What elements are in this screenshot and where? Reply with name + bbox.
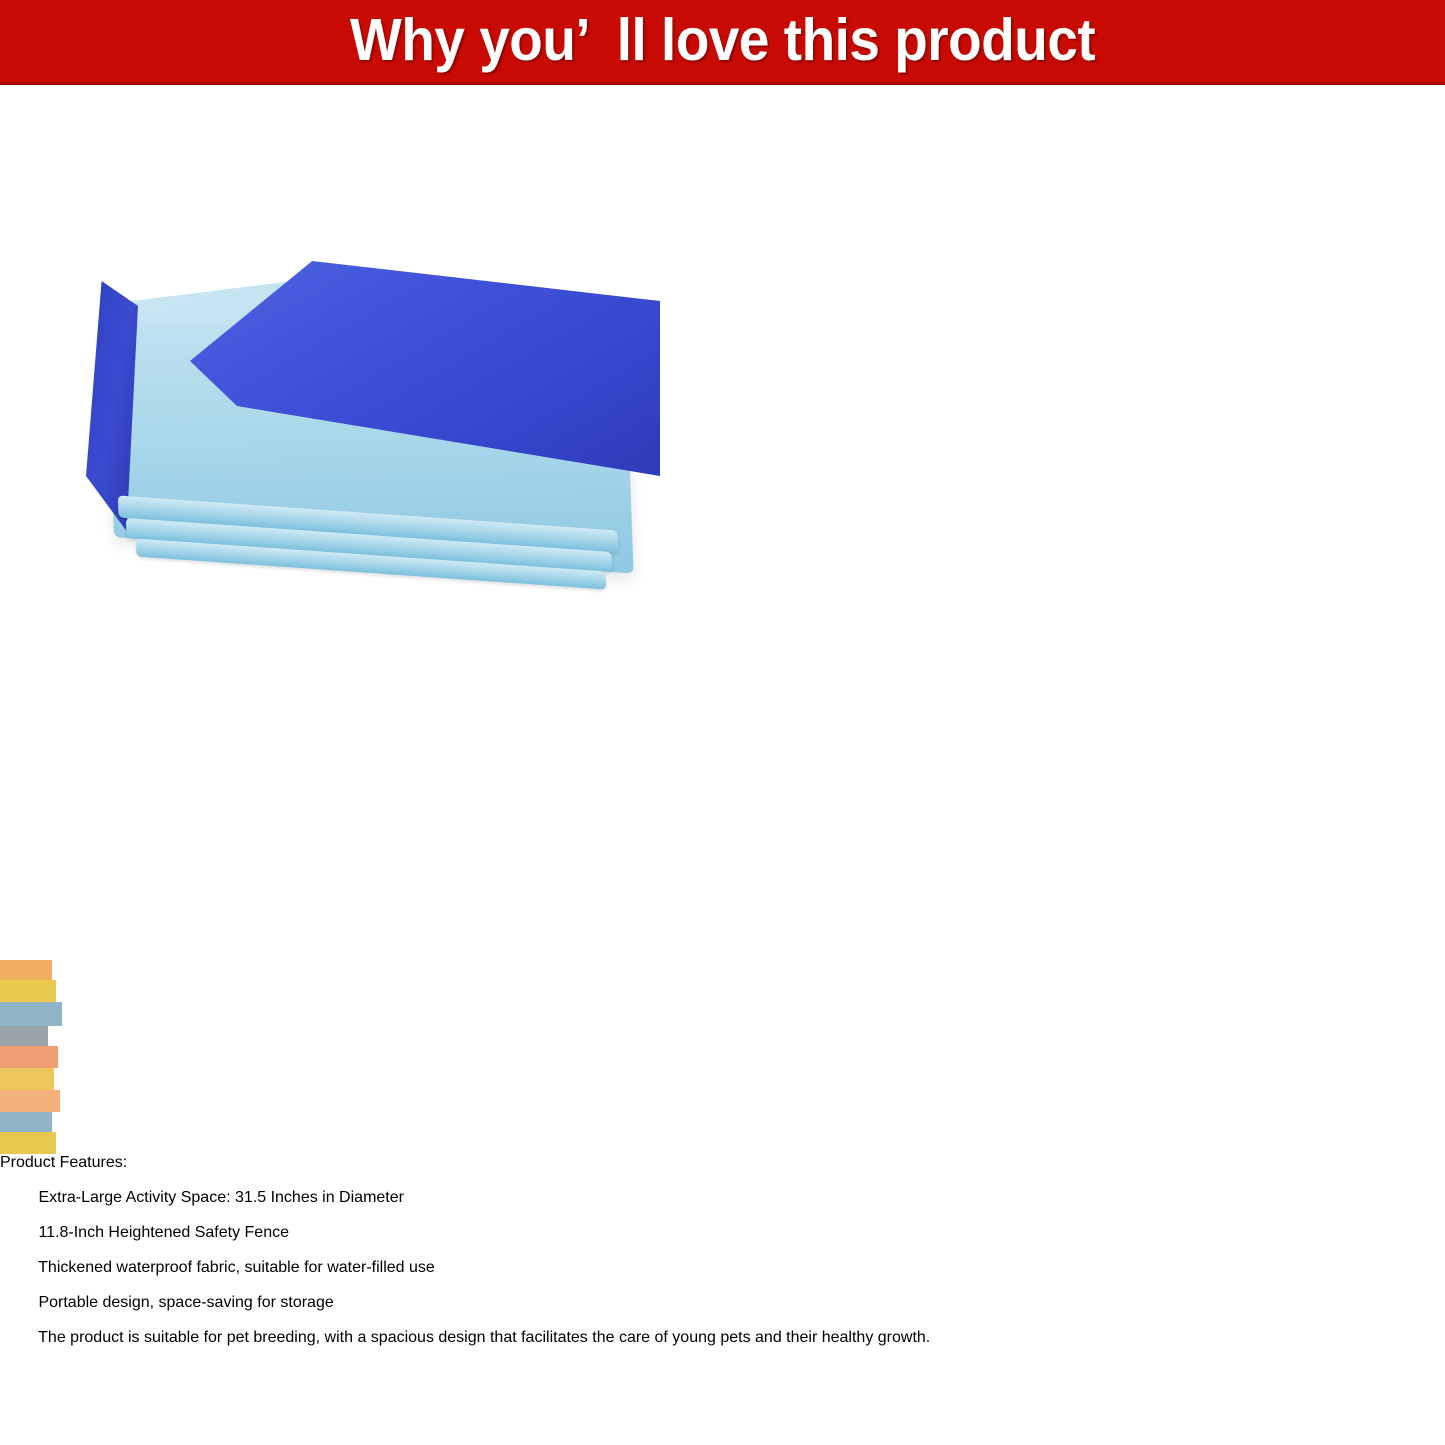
feature-text: Portable design, space-saving for storag… xyxy=(38,1294,333,1311)
product-infographic: Why you’ ll love this product xyxy=(0,0,1445,1445)
check-circle-icon xyxy=(0,1224,38,1241)
feature-text: Thickened waterproof fabric, suitable fo… xyxy=(38,1259,435,1276)
fish-motif xyxy=(0,1002,62,1026)
feature-text: The product is suitable for pet breeding… xyxy=(38,1329,930,1346)
features-list: Extra-Large Activity Space: 31.5 Inches … xyxy=(0,1172,1445,1347)
feature-text: Extra-Large Activity Space: 31.5 Inches … xyxy=(38,1189,404,1206)
pool-fold-lower-edge xyxy=(100,470,160,590)
pool-seam xyxy=(0,389,2,453)
check-circle-icon xyxy=(0,1294,38,1311)
check-circle-icon xyxy=(0,1189,38,1206)
fish-motif xyxy=(0,1068,54,1090)
check-circle-icon xyxy=(0,1329,38,1346)
feature-item: The product is suitable for pet breeding… xyxy=(0,1312,1445,1347)
fish-motif xyxy=(0,980,56,1002)
fish-motif xyxy=(0,960,52,980)
pool-seam xyxy=(0,249,3,352)
pool-seam xyxy=(1,809,139,873)
feature-item: 11.8-Inch Heightened Safety Fence xyxy=(0,1207,1445,1242)
feature-item: Extra-Large Activity Space: 31.5 Inches … xyxy=(0,1172,1445,1207)
check-circle-icon xyxy=(0,1259,38,1276)
banner-title: Why you’ ll love this product xyxy=(350,11,1095,70)
product-photo-folded-pool xyxy=(40,245,710,665)
feature-item: Portable design, space-saving for storag… xyxy=(0,1277,1445,1312)
feature-text: 11.8-Inch Heightened Safety Fence xyxy=(38,1224,289,1241)
fish-motif xyxy=(0,1026,48,1046)
fish-motif xyxy=(0,1046,58,1068)
pool-seam xyxy=(0,669,99,772)
features-heading: Product Features: xyxy=(0,1154,1445,1172)
fish-motif xyxy=(0,1132,56,1154)
pool-seam xyxy=(0,119,3,241)
feature-item: Thickened waterproof fabric, suitable fo… xyxy=(0,1242,1445,1277)
fish-pattern-blanket xyxy=(0,960,1445,1154)
fish-motif xyxy=(0,1090,60,1112)
product-features-section: Product Features: Extra-Large Activity S… xyxy=(0,1154,1445,1347)
header-banner: Why you’ ll love this product xyxy=(0,0,1445,85)
fish-motif xyxy=(0,1112,52,1132)
